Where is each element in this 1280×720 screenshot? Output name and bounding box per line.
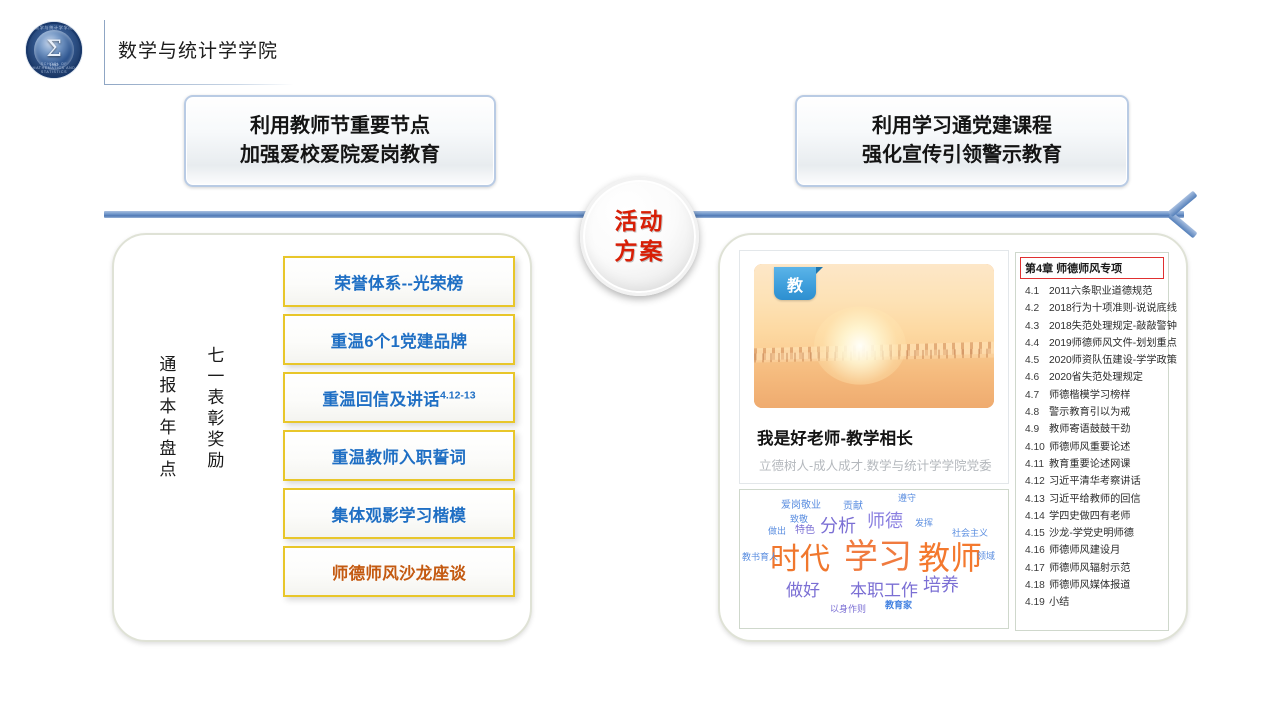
chapter-row-number: 4.11: [1025, 459, 1049, 470]
word-cloud-term: 爱岗敬业: [781, 501, 821, 511]
chapter-row-number: 4.5: [1025, 355, 1049, 366]
chapter-row[interactable]: 4.62020省失范处理规定: [1016, 368, 1168, 385]
course-category-tag-label: 教: [787, 272, 803, 296]
activity-item-label: 师德师风沙龙座谈: [332, 560, 466, 584]
chapter-row-number: 4.16: [1025, 545, 1049, 556]
emblem-year: 1952: [26, 62, 82, 67]
word-cloud-term: 学习: [844, 540, 912, 574]
chapter-row-number: 4.3: [1025, 321, 1049, 332]
chapter-row-text: 习近平给教师的回信: [1049, 490, 1164, 505]
word-cloud-term: 以身作则: [830, 605, 866, 614]
chapter-row-text: 师德楷模学习榜样: [1049, 386, 1164, 401]
chapter-row-text: 2020省失范处理规定: [1049, 368, 1164, 383]
chapter-row-text: 2011六条职业道德规范: [1049, 282, 1164, 297]
word-cloud-term: 时代: [770, 545, 830, 575]
banner-left-line1: 利用教师节重要节点: [250, 112, 430, 141]
banner-left: 利用教师节重要节点 加强爱校爱院爱岗教育: [184, 95, 496, 187]
page-header: 数学与统计学学院 Σ 1952 SCHOOL OF MATHEMATICS AN…: [26, 22, 326, 80]
activity-item-6[interactable]: 师德师风沙龙座谈: [283, 546, 515, 597]
chapter-row-text: 2018行为十项准则-说说底线: [1049, 299, 1177, 314]
chapter-row-number: 4.1: [1025, 286, 1049, 297]
activity-item-4[interactable]: 重温教师入职誓词: [283, 430, 515, 481]
activity-item-label: 重温6个1党建品牌: [331, 328, 468, 352]
chapter-row-number: 4.7: [1025, 390, 1049, 401]
word-cloud-term: 遵守: [898, 494, 916, 503]
chapter-row[interactable]: 4.19小结: [1016, 593, 1168, 610]
word-cloud-term: 教育家: [885, 601, 912, 610]
left-panel-vertical-label-2: 七一表彰奖励: [200, 346, 226, 472]
activity-item-5[interactable]: 集体观影学习楷模: [283, 488, 515, 539]
word-cloud-term: 领域: [977, 552, 995, 561]
activity-item-date-sup: 4.12-13: [440, 389, 476, 401]
course-card[interactable]: 教 我是好老师-教学相长 立德树人-成人成才.数学与统计学学院党委: [739, 250, 1009, 484]
banner-left-line2: 加强爱校爱院爱岗教育: [240, 141, 440, 170]
chapter-row[interactable]: 4.42019师德师风文件-划划重点: [1016, 334, 1168, 351]
word-cloud-term: 特色: [795, 526, 815, 536]
chapter-row-number: 4.19: [1025, 597, 1049, 608]
word-cloud-term: 分析: [820, 517, 856, 535]
chapter-row-text: 学四史做四有老师: [1049, 507, 1164, 522]
chapter-row[interactable]: 4.14学四史做四有老师: [1016, 507, 1168, 524]
chapter-row[interactable]: 4.15沙龙-学党史明师德: [1016, 524, 1168, 541]
activity-item-2[interactable]: 重温6个1党建品牌: [283, 314, 515, 365]
chapter-row-text: 习近平清华考察讲话: [1049, 472, 1164, 487]
chapter-title: 第4章 师德师风专项: [1020, 257, 1164, 279]
word-cloud-term: 做好: [786, 582, 820, 599]
chapter-row-text: 2018失范处理规定-敲敲警钟: [1049, 317, 1177, 332]
word-cloud-term: 发挥: [915, 519, 933, 528]
center-circle-line1: 活动: [615, 207, 665, 236]
chapter-row-text: 师德师风建设月: [1049, 541, 1164, 556]
banner-right: 利用学习通党建课程 强化宣传引领警示教育: [795, 95, 1129, 187]
chapter-row[interactable]: 4.12011六条职业道德规范: [1016, 282, 1168, 299]
chapter-row-text: 师德师风重要论述: [1049, 438, 1164, 453]
word-cloud-term: 教书育人: [742, 553, 778, 562]
word-cloud-term: 师德: [867, 512, 903, 530]
chapter-row[interactable]: 4.12习近平清华考察讲话: [1016, 472, 1168, 489]
chapter-row-text: 警示教育引以为戒: [1049, 403, 1164, 418]
activity-item-label: 重温教师入职誓词: [332, 444, 466, 468]
chapter-row-text: 2019师德师风文件-划划重点: [1049, 334, 1177, 349]
emblem-ring-top-text: 数学与统计学学院: [26, 25, 82, 31]
chapter-row[interactable]: 4.16师德师风建设月: [1016, 541, 1168, 558]
chapter-row-number: 4.4: [1025, 338, 1049, 349]
course-category-tag: 教: [774, 267, 816, 300]
activity-item-label: 集体观影学习楷模: [332, 502, 466, 526]
chapter-list-panel: 第4章 师德师风专项 4.12011六条职业道德规范4.22018行为十项准则-…: [1015, 252, 1169, 631]
chapter-row-number: 4.15: [1025, 528, 1049, 539]
course-subtitle: 立德树人-成人成才.数学与统计学学院党委: [759, 455, 992, 474]
emblem-sigma-glyph: Σ: [26, 37, 82, 62]
chapter-row[interactable]: 4.18师德师风媒体报道: [1016, 576, 1168, 593]
chapter-row[interactable]: 4.32018失范处理规定-敲敲警钟: [1016, 317, 1168, 334]
chapter-row[interactable]: 4.52020师资队伍建设-学学政策: [1016, 351, 1168, 368]
banner-right-line1: 利用学习通党建课程: [872, 112, 1052, 141]
word-cloud-term: 做出: [768, 527, 786, 536]
thumb-sun: [814, 307, 906, 385]
word-cloud: 学习教师时代本职工作培养做好分析师德爱岗敬业贡献遵守致敬做出特色发挥社会主义领域…: [739, 489, 1009, 629]
chapter-row[interactable]: 4.11教育重要论述网课: [1016, 455, 1168, 472]
center-circle-badge: 活动 方案: [580, 177, 699, 296]
chapter-row[interactable]: 4.8警示教育引以为戒: [1016, 403, 1168, 420]
course-thumbnail-image: 教: [754, 264, 994, 408]
word-cloud-term: 教师: [918, 542, 982, 574]
left-panel-item-list: 荣誉体系--光荣榜重温6个1党建品牌重温回信及讲话4.12-13重温教师入职誓词…: [283, 256, 515, 604]
chapter-row-number: 4.2: [1025, 303, 1049, 314]
chapter-row[interactable]: 4.7师德楷模学习榜样: [1016, 386, 1168, 403]
chapter-row-text: 师德师风媒体报道: [1049, 576, 1164, 591]
activity-item-3[interactable]: 重温回信及讲话4.12-13: [283, 372, 515, 423]
chapter-row[interactable]: 4.17师德师风辐射示范: [1016, 559, 1168, 576]
left-panel-vertical-label-1: 通报本年盘点: [152, 355, 178, 481]
chapter-row-number: 4.12: [1025, 476, 1049, 487]
chapter-row-number: 4.14: [1025, 511, 1049, 522]
chapter-row-number: 4.8: [1025, 407, 1049, 418]
chapter-row-number: 4.18: [1025, 580, 1049, 591]
word-cloud-term: 社会主义: [952, 529, 988, 538]
chapter-rows-container: 4.12011六条职业道德规范4.22018行为十项准则-说说底线4.32018…: [1016, 282, 1168, 611]
chapter-row-number: 4.9: [1025, 424, 1049, 435]
chapter-row-number: 4.13: [1025, 494, 1049, 505]
chapter-row-text: 2020师资队伍建设-学学政策: [1049, 351, 1177, 366]
header-underline: [104, 84, 294, 85]
activity-item-label: 重温回信及讲话4.12-13: [322, 386, 475, 410]
chapter-row-text: 教育重要论述网课: [1049, 455, 1164, 470]
chapter-row[interactable]: 4.10师德师风重要论述: [1016, 438, 1168, 455]
header-vertical-divider: [104, 20, 105, 84]
chapter-row-number: 4.17: [1025, 563, 1049, 574]
chapter-row[interactable]: 4.9教师寄语鼓鼓干劲: [1016, 420, 1168, 437]
banner-right-line2: 强化宣传引领警示教育: [862, 141, 1062, 170]
center-circle-line2: 方案: [615, 237, 665, 266]
chapter-row-text: 沙龙-学党史明师德: [1049, 524, 1164, 539]
word-cloud-term: 培养: [923, 576, 959, 594]
header-title: 数学与统计学学院: [118, 36, 278, 63]
chapter-row[interactable]: 4.22018行为十项准则-说说底线: [1016, 299, 1168, 316]
chapter-row-text: 小结: [1049, 593, 1164, 608]
chapter-row-text: 教师寄语鼓鼓干劲: [1049, 420, 1164, 435]
chapter-row-text: 师德师风辐射示范: [1049, 559, 1164, 574]
course-title: 我是好老师-教学相长: [757, 425, 913, 449]
chapter-row-number: 4.6: [1025, 372, 1049, 383]
college-emblem-icon: 数学与统计学学院 Σ 1952 SCHOOL OF MATHEMATICS AN…: [26, 22, 82, 78]
word-cloud-term: 致敬: [790, 515, 808, 524]
activity-item-label: 荣誉体系--光荣榜: [334, 270, 463, 294]
chapter-row-number: 4.10: [1025, 442, 1049, 453]
word-cloud-term: 贡献: [843, 502, 863, 512]
activity-item-1[interactable]: 荣誉体系--光荣榜: [283, 256, 515, 307]
chapter-row[interactable]: 4.13习近平给教师的回信: [1016, 490, 1168, 507]
word-cloud-term: 本职工作: [850, 582, 918, 599]
